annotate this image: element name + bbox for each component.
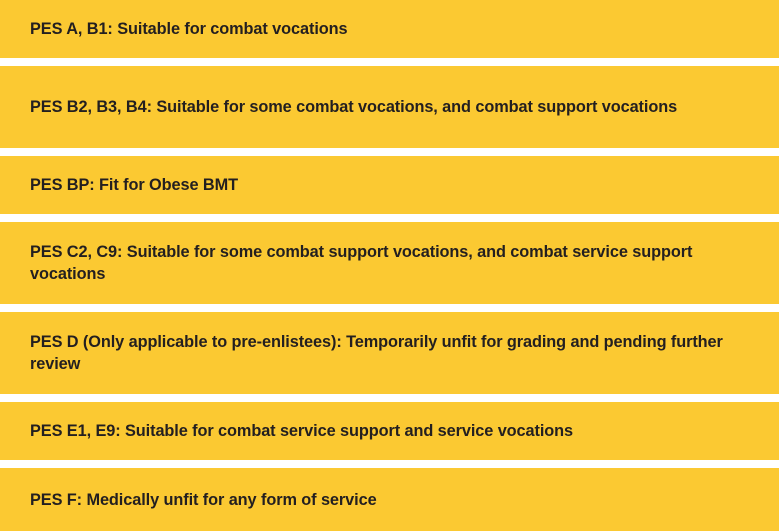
pes-band-pes-a-b1: PES A, B1: Suitable for combat vocations xyxy=(0,0,779,58)
band-divider xyxy=(0,58,779,66)
band-divider xyxy=(0,394,779,402)
pes-band-pes-f: PES F: Medically unfit for any form of s… xyxy=(0,468,779,531)
pes-band-label: PES A, B1: Suitable for combat vocations xyxy=(30,18,726,40)
pes-band-pes-d: PES D (Only applicable to pre-enlistees)… xyxy=(0,312,779,394)
pes-band-pes-b2-b3-b4: PES B2, B3, B4: Suitable for some combat… xyxy=(0,66,779,148)
band-divider xyxy=(0,148,779,156)
pes-band-label: PES D (Only applicable to pre-enlistees)… xyxy=(30,331,726,375)
pes-grading-list: PES A, B1: Suitable for combat vocations… xyxy=(0,0,779,521)
pes-band-label: PES BP: Fit for Obese BMT xyxy=(30,174,726,196)
pes-band-label: PES B2, B3, B4: Suitable for some combat… xyxy=(30,96,726,118)
pes-band-label: PES F: Medically unfit for any form of s… xyxy=(30,489,726,511)
pes-band-label: PES E1, E9: Suitable for combat service … xyxy=(30,420,726,442)
band-divider xyxy=(0,304,779,312)
pes-band-pes-bp: PES BP: Fit for Obese BMT xyxy=(0,156,779,214)
band-divider xyxy=(0,214,779,222)
pes-band-pes-c2-c9: PES C2, C9: Suitable for some combat sup… xyxy=(0,222,779,304)
pes-band-label: PES C2, C9: Suitable for some combat sup… xyxy=(30,241,726,285)
pes-band-pes-e1-e9: PES E1, E9: Suitable for combat service … xyxy=(0,402,779,460)
band-divider xyxy=(0,460,779,468)
